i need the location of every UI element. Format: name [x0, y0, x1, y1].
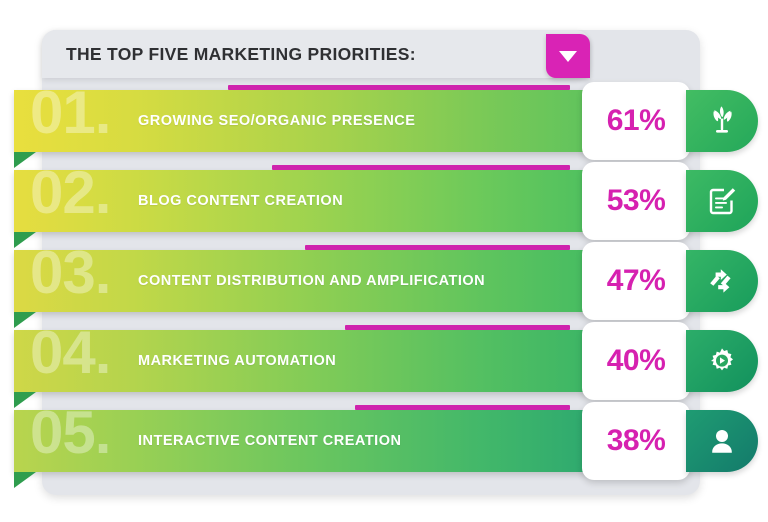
icon-cap[interactable] [686, 410, 758, 472]
ribbon-fold-tail [14, 232, 36, 248]
percentage-badge: 61% [582, 82, 690, 160]
priority-row[interactable]: 04.MARKETING AUTOMATION40% [14, 330, 672, 392]
seedling-plant-icon [705, 104, 739, 138]
ribbon-fold-tail [14, 312, 36, 328]
page-title: THE TOP FIVE MARKETING PRIORITIES: [66, 30, 416, 78]
infographic-canvas: THE TOP FIVE MARKETING PRIORITIES: 01.GR… [0, 0, 768, 522]
icon-cap[interactable] [686, 250, 758, 312]
ribbon-fold-tail [14, 472, 36, 488]
icon-cap[interactable] [686, 330, 758, 392]
priority-label: GROWING SEO/ORGANIC PRESENCE [138, 90, 415, 152]
header-dropdown-tab[interactable] [546, 34, 590, 78]
ribbon-fold-tail [14, 392, 36, 408]
percentage-badge: 53% [582, 162, 690, 240]
priority-row[interactable]: 02.BLOG CONTENT CREATION53% [14, 170, 672, 232]
ribbon-fold-tail [14, 152, 36, 168]
priority-ribbon [14, 330, 672, 392]
priority-row[interactable]: 05.INTERACTIVE CONTENT CREATION38% [14, 410, 672, 472]
priority-label: BLOG CONTENT CREATION [138, 170, 343, 232]
percentage-badge: 47% [582, 242, 690, 320]
user-person-icon [706, 425, 738, 457]
percentage-badge: 38% [582, 402, 690, 480]
priority-row[interactable]: 01.GROWING SEO/ORGANIC PRESENCE61% [14, 90, 672, 152]
note-edit-icon [706, 185, 738, 217]
icon-cap[interactable] [686, 90, 758, 152]
priority-label: CONTENT DISTRIBUTION AND AMPLIFICATION [138, 250, 485, 312]
share-arrows-icon [706, 265, 738, 297]
percentage-badge: 40% [582, 322, 690, 400]
priority-row[interactable]: 03.CONTENT DISTRIBUTION AND AMPLIFICATIO… [14, 250, 672, 312]
gear-play-automation-icon [706, 345, 738, 377]
progress-bar [345, 325, 570, 330]
icon-cap[interactable] [686, 170, 758, 232]
priority-label: INTERACTIVE CONTENT CREATION [138, 410, 401, 472]
priority-label: MARKETING AUTOMATION [138, 330, 336, 392]
chevron-down-icon [559, 51, 577, 62]
